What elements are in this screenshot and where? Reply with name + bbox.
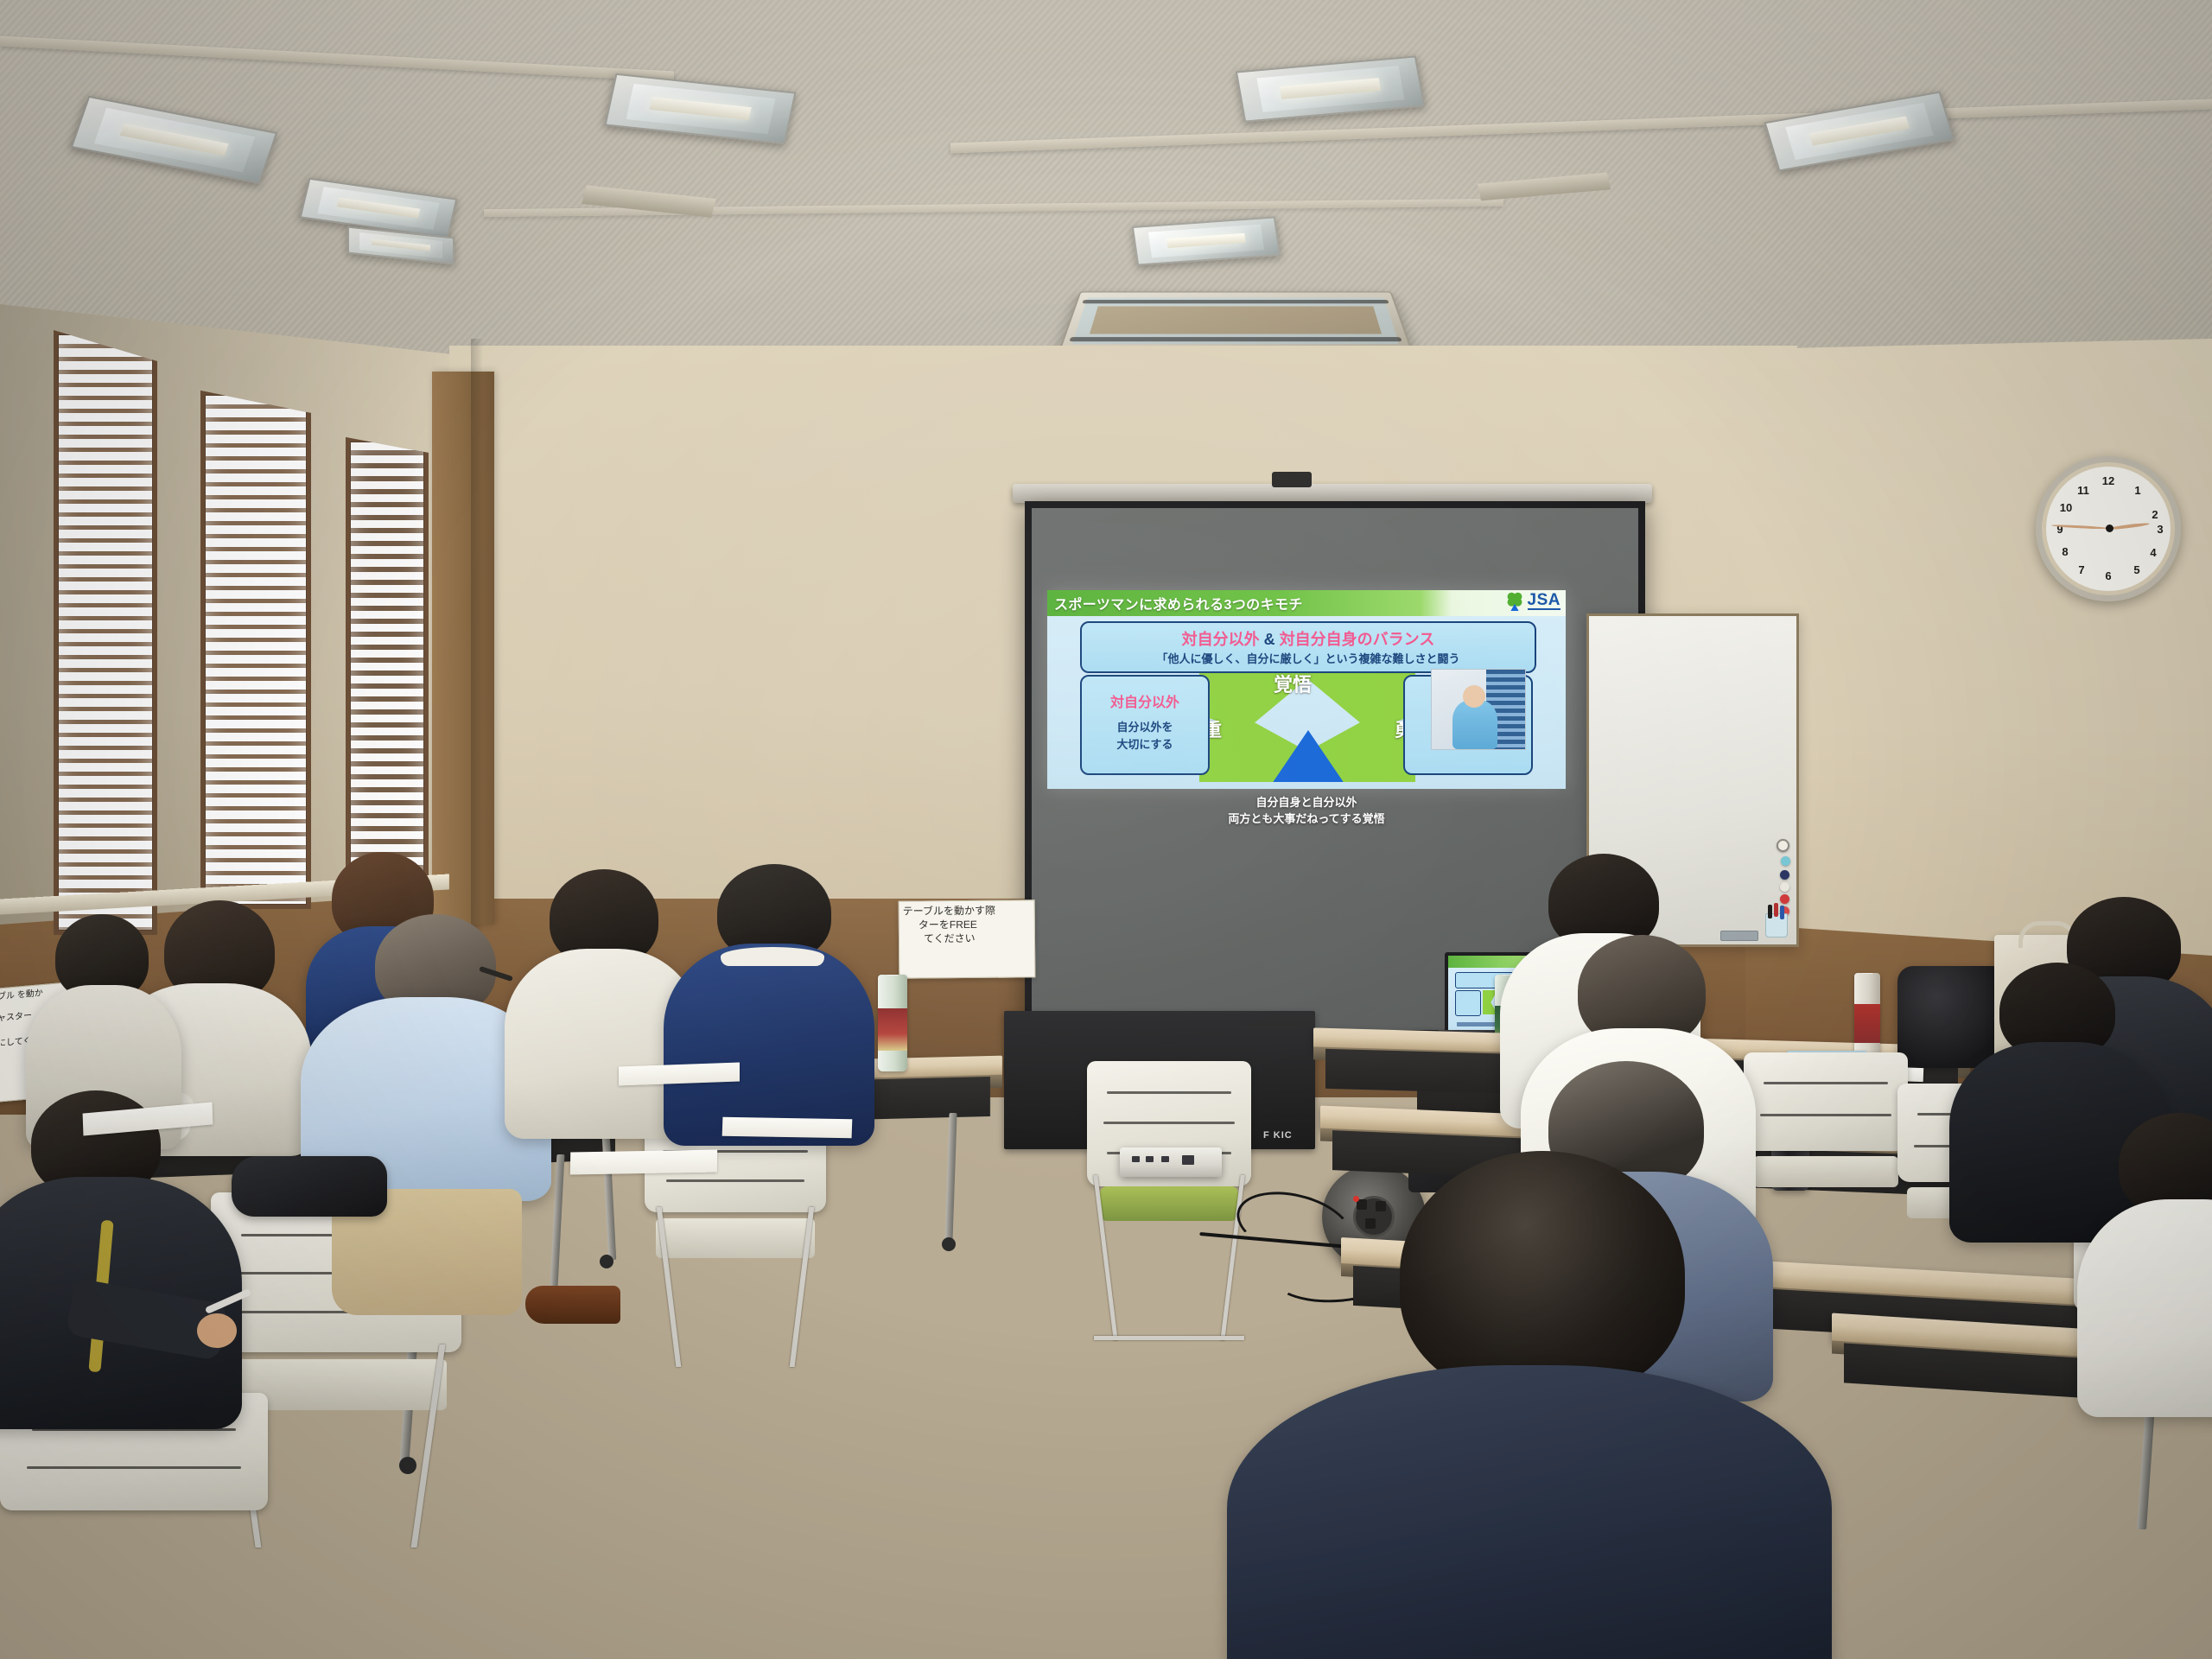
jsa-logo-text: JSA bbox=[1528, 593, 1560, 610]
magnet-4 bbox=[1780, 882, 1789, 892]
clock-numeral-5: 5 bbox=[2129, 564, 2145, 575]
handout-center bbox=[722, 1117, 853, 1139]
attendee-6-collar bbox=[721, 947, 824, 966]
wall-pillar bbox=[432, 372, 494, 925]
x-label-top: 覚悟 bbox=[1274, 673, 1312, 697]
tea-bottle-front bbox=[878, 975, 907, 1071]
bottle-label-front bbox=[878, 1008, 907, 1051]
clover-mark-icon bbox=[1505, 591, 1524, 612]
tea-bottle-right bbox=[1854, 973, 1880, 1061]
attendee-11-torso bbox=[1227, 1365, 1832, 1659]
projector bbox=[1120, 1147, 1222, 1177]
banner-headline-left: 対自分以外 bbox=[1182, 631, 1260, 648]
marker-red bbox=[1774, 903, 1778, 917]
black-jacket-on-desk bbox=[232, 1156, 387, 1217]
clock-numeral-1: 1 bbox=[2130, 485, 2145, 496]
screen-mount-bracket bbox=[1272, 472, 1312, 487]
desk-left-mid-caster-l bbox=[600, 1255, 613, 1268]
wall-clock: 12 1 2 3 4 5 6 7 8 9 10 11 bbox=[2036, 456, 2181, 601]
marker-black bbox=[1768, 905, 1772, 918]
attendee-right-edge bbox=[2077, 1113, 2212, 1424]
clock-numeral-11: 11 bbox=[2075, 485, 2091, 496]
desk-left-mid-leg-r bbox=[944, 1113, 957, 1243]
handout-left-2 bbox=[570, 1150, 717, 1175]
clock-numeral-10: 10 bbox=[2058, 502, 2074, 513]
jsa-logo: JSA bbox=[1505, 591, 1560, 612]
clock-numeral-3: 3 bbox=[2152, 524, 2168, 535]
slide-banner-box: 対自分以外 & 対自分自身のバランス 「他人に優しく、自分に厳しく」という複雑な… bbox=[1080, 621, 1536, 673]
webcam-person-head bbox=[1463, 685, 1485, 708]
magnet-2 bbox=[1781, 856, 1790, 866]
bottle-label-right bbox=[1854, 1004, 1880, 1043]
slide-footer-line2: 両方とも大事だねってする覚悟 bbox=[1047, 810, 1566, 826]
slide-title: スポーツマンに求められる3つのキモチ bbox=[1054, 593, 1303, 613]
x-diagram: 覚悟 尊重 勇気 bbox=[1199, 673, 1415, 782]
laptop-slide-left-box bbox=[1455, 990, 1481, 1016]
clock-numeral-12: 12 bbox=[2101, 475, 2116, 486]
attendee-foreground bbox=[1227, 1151, 1849, 1659]
clock-numeral-4: 4 bbox=[2145, 547, 2161, 558]
sign-center-line2: ターをFREE bbox=[903, 918, 1031, 932]
attendee-14-torso bbox=[2077, 1199, 2212, 1417]
magnet-1 bbox=[1777, 839, 1789, 852]
clock-numeral-2: 2 bbox=[2147, 509, 2163, 520]
slide-footer-block: 自分自身と自分以外 両方とも大事だねってする覚悟 bbox=[1047, 793, 1566, 826]
sign-center-line1: テーブルを動かす際 bbox=[903, 903, 1031, 918]
clock-face: 12 1 2 3 4 5 6 7 8 9 10 11 bbox=[2046, 467, 2171, 591]
webcam-inset bbox=[1431, 669, 1526, 750]
left-box-title: 対自分以外 bbox=[1082, 690, 1208, 711]
clock-numeral-7: 7 bbox=[2074, 564, 2089, 575]
bottle-cap-right bbox=[1861, 973, 1872, 974]
left-box-line1: 自分以外を bbox=[1082, 718, 1208, 734]
marker-blue bbox=[1780, 906, 1784, 919]
speaker-badge: F KIC bbox=[1263, 1130, 1293, 1141]
banner-headline-amp: & bbox=[1264, 631, 1275, 648]
banner-headline-right: 対自分自身のバランス bbox=[1280, 631, 1435, 648]
wall-corner-left bbox=[471, 339, 483, 944]
sign-table-caster-center: テーブルを動かす際 ターをFREE てください bbox=[899, 899, 1036, 978]
attendee-11-hair bbox=[1400, 1151, 1685, 1398]
ceiling-ac-unit bbox=[1058, 291, 1413, 352]
x-triangle-blue bbox=[1272, 730, 1344, 782]
slide-footer-line1: 自分自身と自分以外 bbox=[1047, 793, 1566, 810]
attendee-7-hand bbox=[197, 1313, 237, 1348]
slide-left-box: 対自分以外 自分以外を 大切にする bbox=[1080, 675, 1210, 775]
bottle-cap-front bbox=[887, 975, 899, 976]
window-left-3 bbox=[346, 437, 429, 887]
classroom-photo: 12 1 2 3 4 5 6 7 8 9 10 11 スポーツマンに求められる bbox=[0, 0, 2212, 1659]
window-left-2 bbox=[200, 391, 311, 909]
clock-hour-hand bbox=[2108, 522, 2150, 531]
magnet-5 bbox=[1780, 894, 1789, 904]
window-left-1 bbox=[54, 330, 157, 935]
magnet-3 bbox=[1780, 870, 1789, 880]
clock-numeral-8: 8 bbox=[2057, 546, 2073, 557]
desk-left-mid-caster-r bbox=[942, 1237, 956, 1251]
clock-center-pin bbox=[2106, 524, 2113, 532]
attendee-6-torso bbox=[664, 944, 874, 1146]
screen-roller-housing bbox=[1013, 484, 1652, 503]
clock-numeral-6: 6 bbox=[2101, 570, 2116, 582]
attendee-4-shoe bbox=[525, 1286, 620, 1324]
sign-center-line3: てください bbox=[903, 931, 1031, 946]
wall-right-upper bbox=[1745, 339, 2212, 978]
slide-banner-headline: 対自分以外 & 対自分自身のバランス bbox=[1082, 627, 1535, 650]
slide-banner-subline: 「他人に優しく、自分に厳しく」という複雑な難しさと闘う bbox=[1082, 650, 1535, 666]
left-box-line2: 大切にする bbox=[1082, 735, 1208, 752]
marker-cup bbox=[1765, 913, 1788, 938]
chair-seat-green bbox=[1100, 1186, 1238, 1221]
attendee-dark-track bbox=[0, 1090, 259, 1471]
